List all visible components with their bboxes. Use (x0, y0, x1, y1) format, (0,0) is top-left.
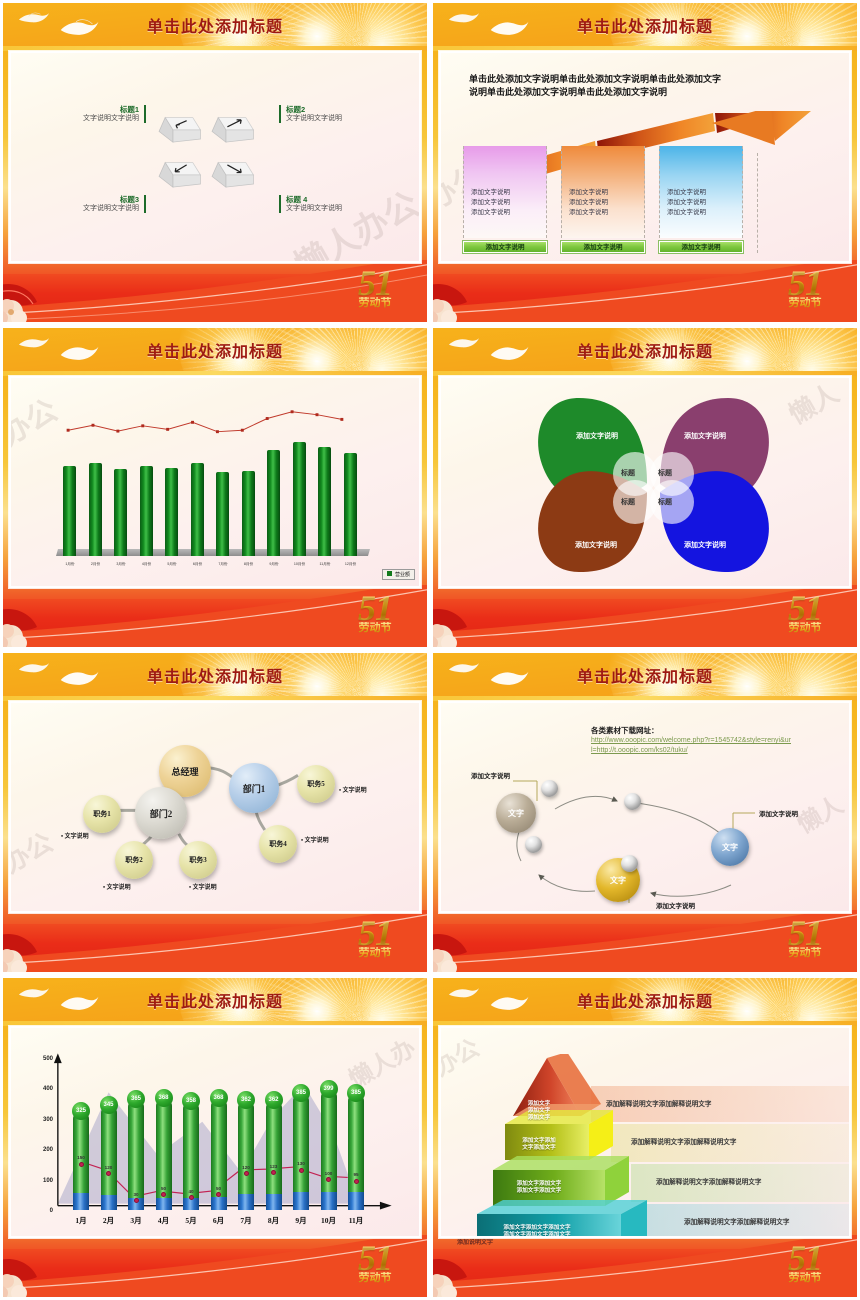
cycle-dot-2 (624, 793, 641, 810)
lantern-flower-icon (3, 1247, 67, 1297)
logo-number: 51 (339, 591, 411, 625)
capsule-base (293, 1192, 309, 1210)
arrow-column-body-3: 添加文字说明 添加文字说明 添加文字说明 (659, 146, 743, 238)
chart-line-value-label: 50 (212, 1186, 226, 1191)
org-node-role-1[interactable]: 职务1 (83, 795, 121, 833)
org-node-role-2[interactable]: 职务2 (115, 841, 153, 879)
content-panel: 办公 (439, 1026, 851, 1238)
cycle-caption-1: 添加文字说明 (471, 770, 510, 780)
chart-capsule: 385 (348, 1093, 364, 1210)
cycle-caption-2: 添加文字说明 (759, 808, 798, 818)
petal-hub-bottom-left: 标题 (621, 497, 635, 507)
petal-label-bottom-left: 添加文字说明 (575, 540, 617, 550)
capsule-base (266, 1194, 282, 1210)
slide-background: 单击此处添加标题 懒人 各类素材下载网址： http://www.ooopic.… (433, 653, 857, 972)
keycap-desc-2: 文字说明文字说明 (286, 115, 342, 122)
chart-line-point (189, 1195, 194, 1200)
arrow-column-2[interactable]: 添加文字说明 添加文字说明 添加文字说明 添加文字说明 (561, 146, 645, 253)
pyramid-level-label-2: 添加文字添加文字添加文字 (499, 1138, 579, 1152)
resource-url-link[interactable]: http://www.ooopic.com/welcome.php?r=1545… (591, 736, 791, 756)
chart-x-label: 11月 (346, 1215, 366, 1226)
chart-y-tick: 100 (37, 1178, 53, 1184)
chart-x-label: 2月 (99, 1215, 119, 1226)
slide-5-org[interactable]: 单击此处添加标题 办公 总经理 部门1 部门2 (0, 650, 430, 975)
chart-line-value-label: 130 (294, 1161, 308, 1166)
capsule-base (101, 1195, 117, 1210)
chart-x-label: 6月 (209, 1215, 229, 1226)
logo-label: 劳动节 (339, 297, 411, 309)
page-title: 单击此处添加标题 (433, 13, 857, 37)
chart-line-value-label: 40 (184, 1189, 198, 1194)
capsule-base (183, 1198, 199, 1210)
cycle-node-2[interactable]: 文字 (711, 828, 749, 866)
keycap-label-4: 标题 4 文字说明文字说明 (279, 195, 364, 213)
chart-x-label: 3月份 (110, 562, 132, 567)
arrow-column-button-2[interactable]: 添加文字说明 (561, 241, 645, 253)
chart-line-point (354, 1179, 359, 1184)
capsule-value-label: 385 (292, 1084, 310, 1102)
chart-capsule: 325 (73, 1111, 89, 1210)
pyramid-level-label-3: 添加文字添加文字添加文字添加文字 (489, 1181, 589, 1195)
slide-7-capsules[interactable]: 单击此处添加标题 懒人办 01002003004005003251月3452月3… (0, 975, 430, 1300)
slide-8-pyramid[interactable]: 单击此处添加标题 办公 (430, 975, 860, 1300)
cycle-caption-3: 添加文字说明 (656, 900, 695, 910)
chart-bar (216, 472, 229, 556)
watermark: 懒人办公 (284, 177, 421, 263)
slide-background: 单击此处添加标题 懒人办公 标题1 文字说明文字说明 (3, 3, 427, 322)
holiday-logo: 51 劳动节 (339, 266, 411, 322)
chart-x-label: 10月份 (289, 562, 311, 567)
org-node-role-5[interactable]: 职务5 (297, 765, 335, 803)
logo-number: 51 (769, 1241, 841, 1275)
org-node-role-3[interactable]: 职务3 (179, 841, 217, 879)
keycap-arrow-down-right-icon (209, 158, 255, 194)
pyramid-note-3: 添加解释说明文字添加解释说明文字 (656, 1176, 762, 1186)
pyramid-note-4: 添加解释说明文字添加解释说明文字 (684, 1216, 790, 1226)
slide-4-petals[interactable]: 单击此处添加标题 懒人 添加文字说明 添加文字说明 添加文字说明 添加文字说明 (430, 325, 860, 650)
chart-line-point (134, 1198, 139, 1203)
arrow-column-button-3[interactable]: 添加文字说明 (659, 241, 743, 253)
slide-footer: 51 劳动节 (3, 585, 427, 647)
chart-line-point (244, 1171, 249, 1176)
chart-x-label: 7月 (236, 1215, 256, 1226)
keycap-heading-3: 标题3 (61, 195, 139, 204)
chart-bar (293, 442, 306, 556)
org-node-department-1[interactable]: 部门1 (229, 763, 279, 813)
content-panel: 懒人 各类素材下载网址： http://www.ooopic.com/welco… (439, 701, 851, 913)
keycap-arrow-down-left-icon (156, 158, 202, 194)
pyramid-footer-note: 添加说明文字 (457, 1237, 493, 1246)
holiday-logo: 51 劳动节 (339, 591, 411, 647)
cycle-dot-4 (525, 836, 542, 853)
chart-capsule: 399 (321, 1089, 337, 1210)
lantern-flower-icon (3, 922, 67, 972)
org-note-4: • 文字说明 (301, 835, 329, 844)
chart-x-label: 2月份 (85, 562, 107, 567)
chart-x-label: 9月 (291, 1215, 311, 1226)
chart-line-value-label: 95 (349, 1172, 363, 1177)
holiday-logo: 51 劳动节 (769, 916, 841, 972)
capsule-value-label: 365 (127, 1090, 145, 1108)
logo-label: 劳动节 (339, 622, 411, 634)
capsule-value-label: 362 (237, 1091, 255, 1109)
keycap-arrow-up-left-icon (156, 113, 202, 149)
chart-y-tick: 200 (37, 1147, 53, 1153)
chart-line-value-label: 150 (74, 1155, 88, 1160)
chart-x-label: 8月份 (238, 562, 260, 567)
capsule-base (156, 1198, 172, 1210)
slide-background: 单击此处添加标题 办公 总经理 部门1 部门2 (3, 653, 427, 972)
arrow-column-body-2: 添加文字说明 添加文字说明 添加文字说明 (561, 146, 645, 238)
capsule-base (73, 1193, 89, 1210)
chart-x-label: 8月 (264, 1215, 284, 1226)
logo-number: 51 (769, 591, 841, 625)
legend-swatch (387, 571, 392, 576)
petal-hub-top-left: 标题 (621, 468, 635, 478)
content-panel: 懒人办公 标题1 文字说明文字说明 (9, 51, 421, 263)
holiday-logo: 51 劳动节 (339, 916, 411, 972)
column-divider (757, 153, 758, 253)
keycap-label-3: 标题3 文字说明文字说明 (61, 195, 146, 213)
chart-capsule: 385 (293, 1093, 309, 1210)
keycap-heading-4: 标题 4 (286, 195, 364, 204)
logo-label: 劳动节 (769, 947, 841, 959)
chart-bar (191, 463, 204, 556)
arrow-column-lines-3: 添加文字说明 添加文字说明 添加文字说明 (667, 188, 706, 218)
chart-line-point (79, 1162, 84, 1167)
chart-x-label: 1月份 (59, 562, 81, 567)
org-note-1: • 文字说明 (61, 831, 89, 840)
chart-bar (63, 466, 76, 556)
slide-footer: 51 劳动节 (3, 1235, 427, 1297)
cycle-dot-3 (621, 855, 638, 872)
chart-line-value-label: 50 (157, 1186, 171, 1191)
petal-diagram (531, 392, 776, 577)
resource-heading: 各类素材下载网址： (591, 725, 659, 736)
slide-2-arrow[interactable]: 单击此处添加标题 办公 单击此处添加文字说明单击此处添加文字说明单击此处添加文字… (430, 0, 860, 325)
logo-number: 51 (339, 1241, 411, 1275)
slide-background: 单击此处添加标题 懒人 添加文字说明 添加文字说明 添加文字说明 添加文字说明 (433, 328, 857, 647)
slide-background: 单击此处添加标题 办公 1月份2月份3月份4月份5月份6月份7月份8月份9月份1… (3, 328, 427, 647)
lantern-flower-icon (433, 1247, 497, 1297)
content-panel: 办公 1月份2月份3月份4月份5月份6月份7月份8月份9月份10月份11月份12… (9, 376, 421, 588)
org-connectors (11, 703, 419, 906)
petal-label-top-left: 添加文字说明 (576, 431, 618, 441)
keycap-desc-1: 文字说明文字说明 (83, 115, 139, 122)
keycap-heading-1: 标题1 (61, 105, 139, 114)
keycap-heading-2: 标题2 (286, 105, 364, 114)
slide-footer: 51 劳动节 (3, 910, 427, 972)
slide-footer: 51 劳动节 (3, 260, 427, 322)
chart-bar (242, 471, 255, 557)
body-text: 单击此处添加文字说明单击此处添加文字说明单击此处添加文字说明单击此处添加文字说明… (469, 73, 729, 99)
pyramid-note-2: 添加解释说明文字添加解释说明文字 (631, 1136, 737, 1146)
capsule-base (211, 1197, 227, 1210)
page-title: 单击此处添加标题 (3, 663, 427, 687)
chart-y-tick: 400 (37, 1086, 53, 1092)
slide-footer: 51 劳动节 (433, 260, 857, 322)
chart-capsule: 345 (101, 1105, 117, 1210)
chart-x-label: 3月 (126, 1215, 146, 1226)
arrow-column-lines-1: 添加文字说明 添加文字说明 添加文字说明 (471, 188, 510, 218)
keycap-desc-3: 文字说明文字说明 (83, 205, 139, 212)
arrow-column-body-1: 添加文字说明 添加文字说明 添加文字说明 (463, 146, 547, 238)
chart-x-label: 6月份 (187, 562, 209, 567)
lantern-flower-icon (433, 597, 497, 647)
capsule-base (238, 1194, 254, 1210)
keycap-label-2: 标题2 文字说明文字说明 (279, 105, 364, 123)
logo-label: 劳动节 (339, 947, 411, 959)
slide-background: 单击此处添加标题 办公 (433, 978, 857, 1297)
slide-footer: 51 劳动节 (433, 585, 857, 647)
capsule-base (348, 1192, 364, 1210)
chart-y-tick: 0 (37, 1208, 53, 1214)
page-title: 单击此处添加标题 (433, 988, 857, 1012)
holiday-logo: 51 劳动节 (769, 266, 841, 322)
chart-bar (267, 450, 280, 557)
arrow-column-1[interactable]: 添加文字说明 添加文字说明 添加文字说明 添加文字说明 (463, 146, 547, 253)
chart-x-label: 9月份 (263, 562, 285, 567)
content-panel: 办公 单击此处添加文字说明单击此处添加文字说明单击此处添加文字说明单击此处添加文… (439, 51, 851, 263)
slide-grid: 单击此处添加标题 懒人办公 标题1 文字说明文字说明 (0, 0, 860, 1300)
keycap-label-1: 标题1 文字说明文字说明 (61, 105, 146, 123)
chart-line-value-label: 120 (102, 1165, 116, 1170)
pyramid-level-label-1: 添加文字添加文字添加文字 (509, 1101, 569, 1122)
logo-label: 劳动节 (769, 1272, 841, 1284)
chart-x-label: 4月 (154, 1215, 174, 1226)
pyramid-level-label-4: 添加文字添加文字添加文字添加文字添加文字添加文字 (473, 1225, 601, 1238)
page-title: 单击此处添加标题 (3, 988, 427, 1012)
chart-bar (114, 469, 127, 556)
chart-capsule: 362 (238, 1100, 254, 1210)
org-note-3: • 文字说明 (189, 882, 217, 891)
chart-bar (318, 447, 331, 557)
logo-number: 51 (339, 266, 411, 300)
chart-y-tick: 300 (37, 1117, 53, 1123)
arrow-column-lines-2: 添加文字说明 添加文字说明 添加文字说明 (569, 188, 608, 218)
slide-background: 单击此处添加标题 办公 单击此处添加文字说明单击此处添加文字说明单击此处添加文字… (433, 3, 857, 322)
capsule-value-label: 362 (265, 1091, 283, 1109)
lantern-flower-icon (3, 597, 67, 647)
slide-1-keycaps[interactable]: 单击此处添加标题 懒人办公 标题1 文字说明文字说明 (0, 0, 430, 325)
slide-footer: 51 劳动节 (433, 910, 857, 972)
logo-number: 51 (769, 916, 841, 950)
arrow-column-3[interactable]: 添加文字说明 添加文字说明 添加文字说明 添加文字说明 (659, 146, 743, 253)
pyramid-note-1: 添加解释说明文字添加解释说明文字 (606, 1098, 712, 1108)
org-note-5: • 文字说明 (339, 785, 367, 794)
watermark: 懒人 (781, 376, 845, 432)
chart-legend: 营业额 (382, 569, 415, 580)
logo-label: 劳动节 (769, 622, 841, 634)
capsule-value-label: 368 (155, 1089, 173, 1107)
logo-label: 劳动节 (339, 1272, 411, 1284)
page-title: 单击此处添加标题 (433, 663, 857, 687)
chart-line-value-label: 100 (322, 1171, 336, 1176)
chart-bar (140, 466, 153, 556)
logo-number: 51 (769, 266, 841, 300)
cycle-node-1[interactable]: 文字 (496, 793, 536, 833)
holiday-logo: 51 劳动节 (769, 1241, 841, 1297)
chart-line-point (299, 1168, 304, 1173)
chart-bar (165, 468, 178, 557)
chart-line-point (106, 1171, 111, 1176)
slide-footer: 添加说明文字 51 劳动节 (433, 1235, 857, 1297)
chart-x-label: 5月 (181, 1215, 201, 1226)
chart-x-label: 11月份 (314, 562, 336, 567)
slide-3-columns[interactable]: 单击此处添加标题 办公 1月份2月份3月份4月份5月份6月份7月份8月份9月份1… (0, 325, 430, 650)
petal-hub-bottom-right: 标题 (658, 497, 672, 507)
capsule-value-label: 345 (100, 1096, 118, 1114)
org-node-department-2[interactable]: 部门2 (135, 787, 187, 839)
chart-capsule: 362 (266, 1100, 282, 1210)
content-panel: 办公 总经理 部门1 部门2 职务1 职务2 (9, 701, 421, 913)
content-panel: 懒人办 01002003004005003251月3452月3653月3684月… (9, 1026, 421, 1238)
chart-bar (344, 453, 357, 557)
petal-label-top-right: 添加文字说明 (684, 431, 726, 441)
chart-x-label: 10月 (319, 1215, 339, 1226)
keycap-arrow-up-right-icon (209, 113, 255, 149)
arrow-column-button-1[interactable]: 添加文字说明 (463, 241, 547, 253)
page-title: 单击此处添加标题 (3, 13, 427, 37)
chart-line-value-label: 123 (267, 1164, 281, 1169)
chart-y-tick: 500 (37, 1056, 53, 1062)
org-node-role-4[interactable]: 职务4 (259, 825, 297, 863)
lantern-flower-icon (3, 272, 67, 322)
legend-label: 营业额 (395, 572, 410, 578)
lantern-flower-icon (433, 922, 497, 972)
capsule-value-label: 399 (320, 1080, 338, 1098)
petal-hub-top-right: 标题 (658, 468, 672, 478)
chart-line-value-label: 30 (129, 1192, 143, 1197)
page-title: 单击此处添加标题 (3, 338, 427, 362)
chart-x-label: 5月份 (161, 562, 183, 567)
keycap-desc-4: 文字说明文字说明 (286, 205, 342, 212)
chart-x-label: 7月份 (212, 562, 234, 567)
cycle-dot-1 (541, 780, 558, 797)
page-title: 单击此处添加标题 (433, 338, 857, 362)
chart-bar (89, 463, 102, 556)
capsule-base (321, 1192, 337, 1210)
chart-x-label: 4月份 (136, 562, 158, 567)
combo-chart: 01002003004005003251月3452月3653月3684月3585… (11, 1028, 419, 1236)
slide-background: 单击此处添加标题 懒人办 01002003004005003251月3452月3… (3, 978, 427, 1297)
petal-label-bottom-right: 添加文字说明 (684, 540, 726, 550)
holiday-logo: 51 劳动节 (339, 1241, 411, 1297)
holiday-logo: 51 劳动节 (769, 591, 841, 647)
chart-line-value-label: 120 (239, 1165, 253, 1170)
slide-6-cycle[interactable]: 单击此处添加标题 懒人 各类素材下载网址： http://www.ooopic.… (430, 650, 860, 975)
capsule-value-label: 368 (210, 1089, 228, 1107)
logo-number: 51 (339, 916, 411, 950)
chart-x-label: 12月份 (340, 562, 362, 567)
bar-chart: 1月份2月份3月份4月份5月份6月份7月份8月份9月份10月份11月份12月份 (11, 378, 419, 586)
capsule-value-label: 385 (347, 1084, 365, 1102)
chart-x-label: 1月 (71, 1215, 91, 1226)
lantern-flower-icon (433, 272, 497, 322)
logo-label: 劳动节 (769, 297, 841, 309)
org-note-2: • 文字说明 (103, 882, 131, 891)
content-panel: 懒人 添加文字说明 添加文字说明 添加文字说明 添加文字说明 标题 标题 (439, 376, 851, 588)
